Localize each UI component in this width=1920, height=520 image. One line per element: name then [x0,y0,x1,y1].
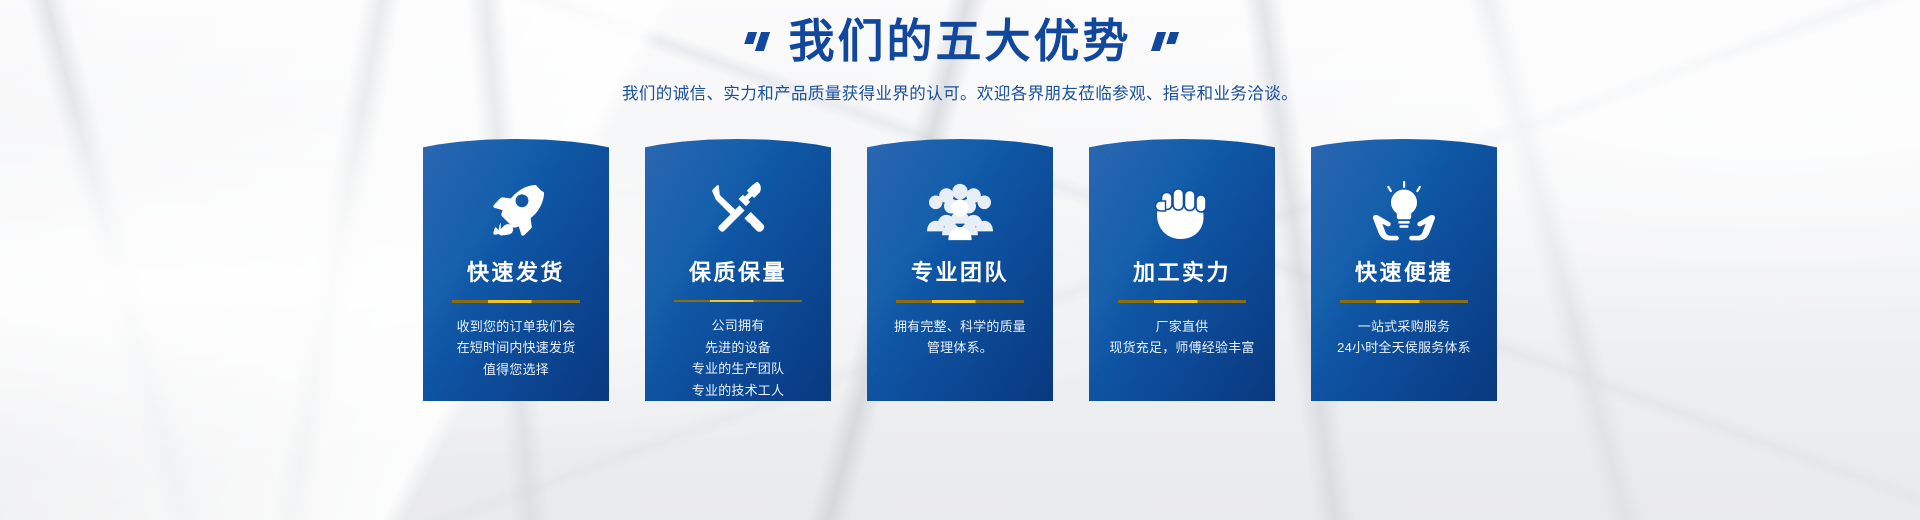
advantage-card[interactable]: 专业团队 拥有完整、科学的质量 管理体系。 [867,139,1053,401]
people-group-icon [927,181,993,243]
card-description: 一站式采购服务 24小时全天侯服务体系 [1327,316,1481,359]
card-title: 快速便捷 [1355,255,1453,287]
wrench-screwdriver-icon [707,181,769,243]
card-title: 快速发货 [467,255,565,287]
card-description-line: 公司拥有 [692,315,784,336]
card-description-line: 现货充足，师傅经验丰富 [1109,337,1254,358]
page-title: 我们的五大优势 [789,16,1132,67]
card-description-line: 收到您的订单我们会 [457,316,576,337]
card-divider [674,300,802,302]
card-description-line: 专业的生产团队 [692,358,784,379]
card-title: 保质保量 [689,255,787,287]
card-description: 公司拥有 先进的设备 专业的生产团队 专业的技术工人 [682,315,794,401]
card-title: 加工实力 [1133,255,1231,287]
page-subtitle: 我们的诚信、实力和产品质量获得业界的认可。欢迎各界朋友莅临参观、指导和业务洽谈。 [0,80,1920,104]
advantage-card[interactable]: 快速便捷 一站式采购服务 24小时全天侯服务体系 [1311,139,1497,401]
section-header: 我们的五大优势 我们的诚信、实力和产品质量获得业界的认可。欢迎各界朋友莅临参观、… [0,0,1920,104]
card-divider [896,300,1024,303]
card-title: 专业团队 [911,255,1009,287]
advantage-card[interactable]: 保质保量 公司拥有 先进的设备 专业的生产团队 专业的技术工人 [645,139,831,401]
card-description-line: 拥有完整、科学的质量 [894,316,1026,337]
fist-icon [1154,181,1210,243]
card-description-line: 值得您选择 [457,359,576,380]
card-divider [1340,300,1468,303]
card-description-line: 厂家直供 [1109,316,1254,337]
rocket-icon [485,181,547,243]
card-description-line: 专业的技术工人 [692,380,784,401]
card-divider [1118,300,1246,303]
card-description: 收到您的订单我们会 在短时间内快速发货 值得您选择 [447,316,586,380]
slash-marks-right-icon [1150,32,1178,51]
card-description-line: 先进的设备 [692,337,784,358]
advantage-card[interactable]: 加工实力 厂家直供 现货充足，师傅经验丰富 [1089,139,1275,401]
card-description-line: 24小时全天侯服务体系 [1337,337,1471,358]
card-description-line: 管理体系。 [894,337,1026,358]
card-divider [452,300,580,303]
card-description-line: 在短时间内快速发货 [457,337,576,358]
slash-marks-left-icon [741,32,769,51]
lightbulb-in-hands-icon [1372,181,1436,243]
title-row: 我们的五大优势 [0,16,1920,67]
card-description-line: 一站式采购服务 [1337,316,1471,337]
card-description: 厂家直供 现货充足，师傅经验丰富 [1099,316,1264,359]
card-description: 拥有完整、科学的质量 管理体系。 [884,316,1036,359]
advantage-card[interactable]: 快速发货 收到您的订单我们会 在短时间内快速发货 值得您选择 [423,139,609,401]
advantage-card-list: 快速发货 收到您的订单我们会 在短时间内快速发货 值得您选择 保质保量 公司拥有 [0,139,1920,401]
